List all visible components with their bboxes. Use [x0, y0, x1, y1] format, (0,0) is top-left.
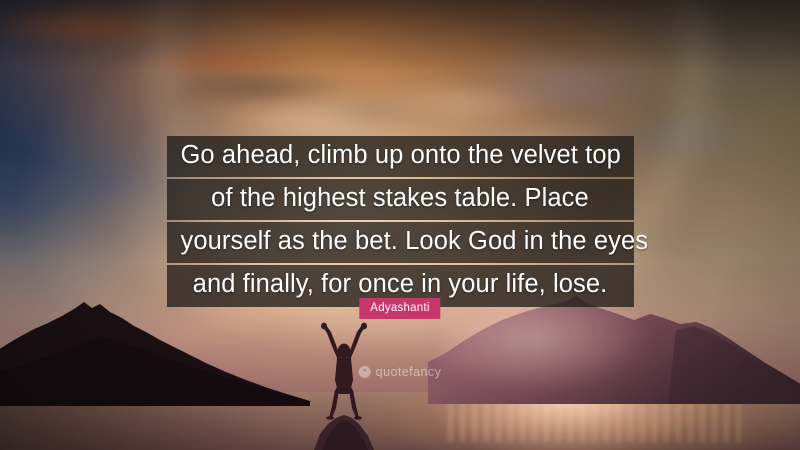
person-silhouette-on-rock	[296, 322, 392, 450]
left-mountain-silhouette	[0, 296, 310, 406]
quote-line: of the highest stakes table. Place	[167, 179, 634, 220]
watermark: “ quotefancy	[359, 365, 442, 379]
quote-line: Go ahead, climb up onto the velvet top	[167, 136, 634, 177]
quote-image-canvas: Go ahead, climb up onto the velvet top o…	[0, 0, 800, 450]
quote-line: yourself as the bet. Look God in the eye…	[167, 222, 634, 263]
author-badge: Adyashanti	[359, 298, 440, 319]
right-mountain-silhouette	[428, 292, 800, 404]
watermark-label: quotefancy	[376, 365, 442, 379]
quote-mark-badge-icon: “	[359, 366, 371, 378]
quote-text-block: Go ahead, climb up onto the velvet top o…	[0, 136, 800, 307]
